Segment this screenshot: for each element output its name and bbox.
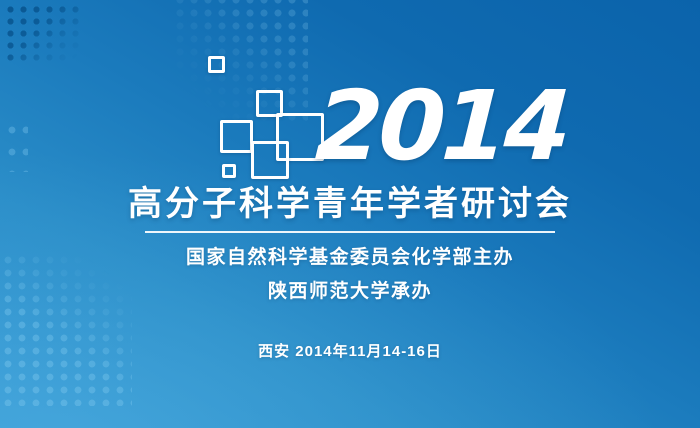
title-divider [145, 231, 555, 233]
decorative-square-1-icon [208, 56, 225, 73]
decorative-square-5-icon [251, 141, 289, 179]
page-title: 高分子科学青年学者研讨会 [0, 182, 700, 226]
decorative-square-6-icon [222, 164, 236, 178]
conference-poster: 2014 高分子科学青年学者研讨会 国家自然科学基金委员会化学部主办 陕西师范大… [0, 0, 700, 428]
title-block: 高分子科学青年学者研讨会 国家自然科学基金委员会化学部主办 陕西师范大学承办 [0, 182, 700, 309]
year-heading: 2014 [313, 78, 569, 174]
dot-pattern-upper-middle-icon [176, 0, 308, 124]
dot-pattern-left-stray-icon [8, 126, 28, 172]
dot-pattern-top-left-icon [7, 6, 85, 64]
organizer-line: 国家自然科学基金委员会化学部主办 [0, 241, 700, 275]
host-line: 陕西师范大学承办 [0, 275, 700, 309]
date-location-line: 西安 2014年11月14-16日 [0, 340, 700, 361]
decorative-square-3-icon [220, 120, 253, 153]
